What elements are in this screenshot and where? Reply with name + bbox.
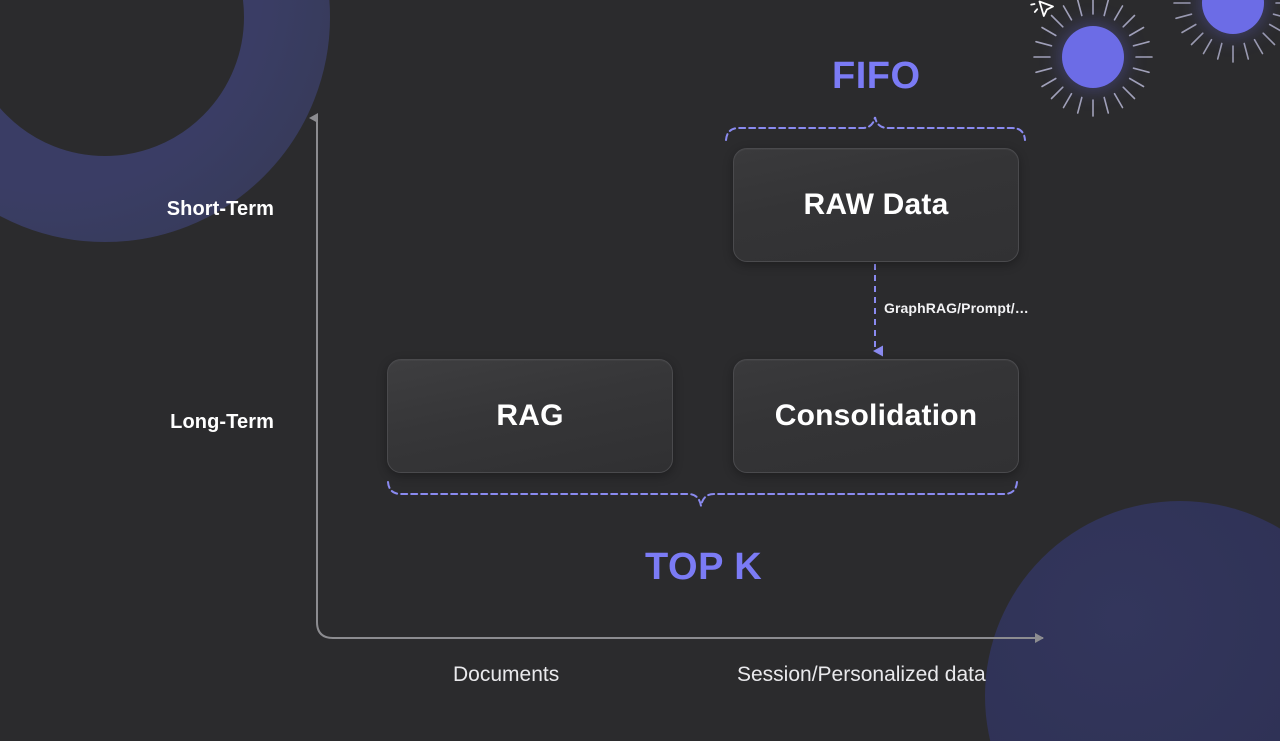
node-raw-data[interactable]: RAW Data: [733, 148, 1019, 262]
node-rag-label: RAG: [496, 399, 563, 433]
brace-label-topk: TOP K: [645, 546, 762, 589]
node-raw-data-label: RAW Data: [804, 188, 949, 222]
diagram-canvas: Short-Term Long-Term Documents Session/P…: [0, 0, 1280, 741]
node-rag[interactable]: RAG: [387, 359, 673, 473]
node-consolidation[interactable]: Consolidation: [733, 359, 1019, 473]
edge-label-graphrag: GraphRAG/Prompt/…: [884, 300, 1029, 316]
brace-fifo: [726, 117, 1025, 140]
node-consolidation-label: Consolidation: [775, 399, 978, 433]
brace-topk: [388, 482, 1017, 506]
brace-label-fifo: FIFO: [832, 55, 921, 98]
